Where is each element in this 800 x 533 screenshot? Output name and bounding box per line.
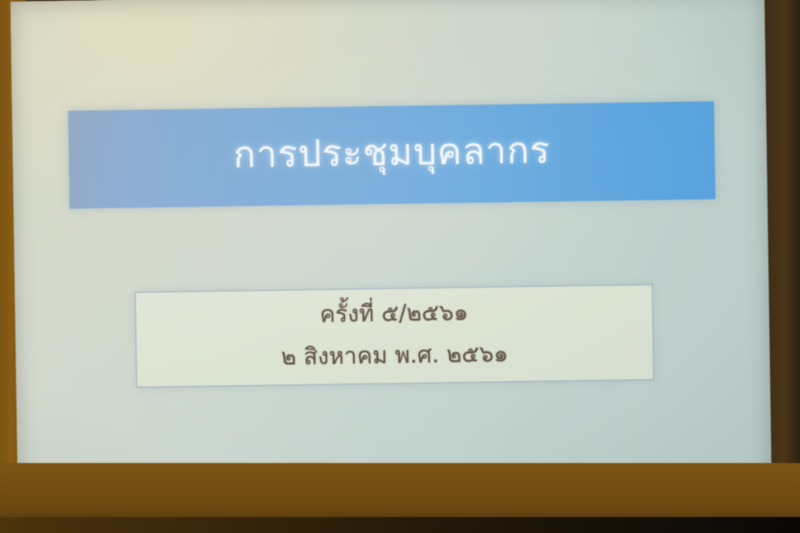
slide-title: การประชุมบุคลากร [233,129,550,180]
slide-subtitle-box: ครั้งที่ ๕/๒๕๖๑ ๒ สิงหาคม พ.ศ. ๒๕๖๑ [135,284,654,388]
projected-slide-photo: การประชุมบุคลากร ครั้งที่ ๕/๒๕๖๑ ๒ สิงหา… [0,0,800,533]
subtitle-line-meeting-number: ครั้งที่ ๕/๒๕๖๑ [320,300,469,330]
wall-bottom-shadow [0,517,800,533]
slide-title-banner: การประชุมบุคลากร [68,101,715,209]
projection-screen: การประชุมบุคลากร ครั้งที่ ๕/๒๕๖๑ ๒ สิงหา… [10,0,772,514]
slide-canvas: การประชุมบุคลากร ครั้งที่ ๕/๒๕๖๑ ๒ สิงหา… [10,0,772,514]
subtitle-line-date: ๒ สิงหาคม พ.ศ. ๒๕๖๑ [281,341,509,372]
